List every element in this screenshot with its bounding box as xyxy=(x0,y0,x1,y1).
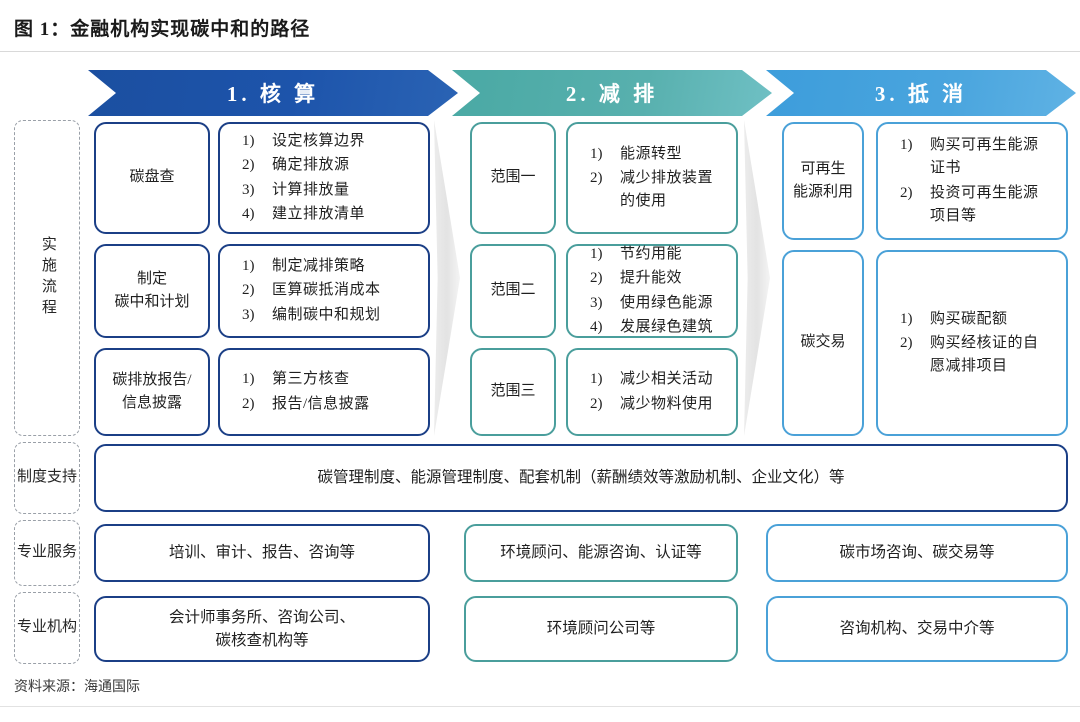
stage3-row1-items-box[interactable]: 1)购买可再生能源证书2)投资可再生能源项目等 xyxy=(876,122,1068,240)
numbered-item: 2)购买经核证的自愿减排项目 xyxy=(900,332,1066,379)
numbered-item-text: 匡算碳抵消成本 xyxy=(272,279,428,302)
numbered-item-number: 3) xyxy=(590,292,620,315)
numbered-item-number: 1) xyxy=(900,308,930,331)
stage2-row3-title-box[interactable]: 范围三 xyxy=(470,348,556,436)
numbered-item-number: 4) xyxy=(590,316,620,339)
numbered-item-number: 1) xyxy=(590,368,620,391)
numbered-item: 1)购买可再生能源证书 xyxy=(900,134,1066,181)
stage1-row1-title: 碳盘查 xyxy=(129,166,174,189)
numbered-item-number: 1) xyxy=(590,143,620,166)
stage1-row3-title: 碳排放报告/信息披露 xyxy=(112,369,191,416)
stage2-row2-item-list: 1)节约用能2)提升能效3)使用绿色能源4)发展绿色建筑 xyxy=(568,242,736,340)
stage3-row1-item-list: 1)购买可再生能源证书2)投资可再生能源项目等 xyxy=(878,133,1066,229)
numbered-item: 2)匡算碳抵消成本 xyxy=(242,279,428,302)
numbered-item-text: 购买可再生能源证书 xyxy=(930,134,1066,181)
stage3-row2-item-list: 1)购买碳配额2)购买经核证的自愿减排项目 xyxy=(878,307,1066,380)
numbered-item-number: 1) xyxy=(900,134,930,157)
stage3-row1-title-box[interactable]: 可再生能源利用 xyxy=(782,122,864,240)
numbered-item: 3)使用绿色能源 xyxy=(590,292,736,315)
numbered-item: 1)购买碳配额 xyxy=(900,308,1066,331)
stage-banner-row: 1. 核 算 2. 减 排 3. 抵 消 xyxy=(0,70,1080,116)
numbered-item-text: 编制碳中和规划 xyxy=(272,304,428,327)
row-label-process: 实施流程 xyxy=(14,120,80,436)
numbered-item-number: 3) xyxy=(242,304,272,327)
service-stage1-text: 培训、审计、报告、咨询等 xyxy=(169,541,355,564)
organization-stage2-text: 环境顾问公司等 xyxy=(547,617,656,640)
numbered-item: 2)提升能效 xyxy=(590,267,736,290)
policy-support-box[interactable]: 碳管理制度、能源管理制度、配套机制（薪酬绩效等激励机制、企业文化）等 xyxy=(94,444,1068,512)
row-label-policy: 制度支持 xyxy=(14,442,80,514)
stage2-row2-items-box[interactable]: 1)节约用能2)提升能效3)使用绿色能源4)发展绿色建筑 xyxy=(566,244,738,338)
numbered-item-number: 1) xyxy=(242,368,272,391)
numbered-item-number: 2) xyxy=(590,393,620,416)
numbered-item-text: 建立排放清单 xyxy=(272,203,428,226)
numbered-item-number: 2) xyxy=(242,154,272,177)
service-stage1-box[interactable]: 培训、审计、报告、咨询等 xyxy=(94,524,430,582)
numbered-item-number: 1) xyxy=(590,243,620,266)
stage1-row2-item-list: 1)制定减排策略2)匡算碳抵消成本3)编制碳中和规划 xyxy=(220,254,428,328)
numbered-item: 1)能源转型 xyxy=(590,143,736,166)
numbered-item: 1)减少相关活动 xyxy=(590,368,736,391)
numbered-item: 2)投资可再生能源项目等 xyxy=(900,182,1066,229)
stage1-row2-title: 制定碳中和计划 xyxy=(114,268,189,315)
stage3-row2-title-box[interactable]: 碳交易 xyxy=(782,250,864,436)
numbered-item: 2)确定排放源 xyxy=(242,154,428,177)
stage-separator-chevron-2 xyxy=(744,120,770,436)
numbered-item-number: 2) xyxy=(242,279,272,302)
stage2-row1-items-box[interactable]: 1)能源转型2)减少排放装置的使用 xyxy=(566,122,738,234)
stage2-row1-title: 范围一 xyxy=(490,166,535,189)
numbered-item: 3)计算排放量 xyxy=(242,179,428,202)
numbered-item-number: 2) xyxy=(900,332,930,355)
stage2-row3-item-list: 1)减少相关活动2)减少物料使用 xyxy=(568,367,736,417)
numbered-item-text: 能源转型 xyxy=(620,143,736,166)
numbered-item-text: 发展绿色建筑 xyxy=(620,316,736,339)
numbered-item-text: 计算排放量 xyxy=(272,179,428,202)
organization-stage1-text: 会计师事务所、咨询公司、碳核查机构等 xyxy=(169,606,355,653)
organization-stage3-box[interactable]: 咨询机构、交易中介等 xyxy=(766,596,1068,662)
numbered-item: 2)减少物料使用 xyxy=(590,393,736,416)
numbered-item-number: 1) xyxy=(242,255,272,278)
numbered-item-number: 4) xyxy=(242,203,272,226)
numbered-item: 1)节约用能 xyxy=(590,243,736,266)
numbered-item-text: 投资可再生能源项目等 xyxy=(930,182,1066,229)
numbered-item: 4)建立排放清单 xyxy=(242,203,428,226)
row-label-organization: 专业机构 xyxy=(14,592,80,664)
stage1-row3-title-box[interactable]: 碳排放报告/信息披露 xyxy=(94,348,210,436)
numbered-item: 4)发展绿色建筑 xyxy=(590,316,736,339)
stage1-row1-item-list: 1)设定核算边界2)确定排放源3)计算排放量4)建立排放清单 xyxy=(220,129,428,227)
numbered-item: 1)制定减排策略 xyxy=(242,255,428,278)
stage3-row2-title: 碳交易 xyxy=(800,331,845,354)
row-label-policy-text: 制度支持 xyxy=(17,467,77,489)
numbered-item-text: 提升能效 xyxy=(620,267,736,290)
policy-support-text: 碳管理制度、能源管理制度、配套机制（薪酬绩效等激励机制、企业文化）等 xyxy=(317,466,844,489)
stage3-row2-items-box[interactable]: 1)购买碳配额2)购买经核证的自愿减排项目 xyxy=(876,250,1068,436)
numbered-item-number: 3) xyxy=(242,179,272,202)
numbered-item-text-continued: 项目等 xyxy=(930,205,1066,228)
stage3-row1-title: 可再生能源利用 xyxy=(793,158,853,205)
stage1-row2-items-box[interactable]: 1)制定减排策略2)匡算碳抵消成本3)编制碳中和规划 xyxy=(218,244,430,338)
row-label-service: 专业服务 xyxy=(14,520,80,586)
numbered-item-text: 第三方核查 xyxy=(272,368,428,391)
numbered-item-text: 使用绿色能源 xyxy=(620,292,736,315)
stage2-row2-title: 范围二 xyxy=(490,279,535,302)
stage-banner-offset[interactable]: 3. 抵 消 xyxy=(766,70,1076,116)
row-label-service-text: 专业服务 xyxy=(17,542,77,564)
numbered-item-text: 节约用能 xyxy=(620,243,736,266)
numbered-item-text: 减少相关活动 xyxy=(620,368,736,391)
numbered-item-number: 2) xyxy=(900,182,930,205)
footer-divider xyxy=(0,706,1080,707)
stage-separator-chevron-1 xyxy=(434,120,460,436)
numbered-item-text: 制定减排策略 xyxy=(272,255,428,278)
organization-stage3-text: 咨询机构、交易中介等 xyxy=(839,617,994,640)
figure-title-bar: 图 1：金融机构实现碳中和的路径 xyxy=(0,0,1080,52)
numbered-item-text-continued: 证书 xyxy=(930,157,1066,180)
stage2-row3-title: 范围三 xyxy=(490,380,535,403)
service-stage3-text: 碳市场咨询、碳交易等 xyxy=(839,541,994,564)
source-note: 资料来源：海通国际 xyxy=(14,676,140,696)
organization-stage1-box[interactable]: 会计师事务所、咨询公司、碳核查机构等 xyxy=(94,596,430,662)
numbered-item-text: 报告/信息披露 xyxy=(272,393,428,416)
stage-banner-reduction-label: 2. 减 排 xyxy=(566,78,658,108)
numbered-item: 3)编制碳中和规划 xyxy=(242,304,428,327)
stage-banner-offset-label: 3. 抵 消 xyxy=(875,78,967,108)
stage1-row1-items-box[interactable]: 1)设定核算边界2)确定排放源3)计算排放量4)建立排放清单 xyxy=(218,122,430,234)
stage2-row3-items-box[interactable]: 1)减少相关活动2)减少物料使用 xyxy=(566,348,738,436)
organization-stage2-box[interactable]: 环境顾问公司等 xyxy=(464,596,738,662)
stage-banner-accounting[interactable]: 1. 核 算 xyxy=(88,70,458,116)
numbered-item-text: 购买碳配额 xyxy=(930,308,1066,331)
stage1-row2-title-box[interactable]: 制定碳中和计划 xyxy=(94,244,210,338)
numbered-item: 1)设定核算边界 xyxy=(242,130,428,153)
stage1-row1-title-box[interactable]: 碳盘查 xyxy=(94,122,210,234)
numbered-item-text: 减少物料使用 xyxy=(620,393,736,416)
stage-banner-reduction[interactable]: 2. 减 排 xyxy=(452,70,772,116)
stage1-row3-item-list: 1)第三方核查2)报告/信息披露 xyxy=(220,367,428,417)
row-label-process-text: 实施流程 xyxy=(36,236,58,320)
row-label-organization-text: 专业机构 xyxy=(17,617,77,639)
stage-banner-accounting-label: 1. 核 算 xyxy=(227,78,319,108)
numbered-item-number: 2) xyxy=(590,267,620,290)
numbered-item-text-continued: 愿减排项目 xyxy=(930,355,1066,378)
numbered-item-text: 设定核算边界 xyxy=(272,130,428,153)
numbered-item: 2)报告/信息披露 xyxy=(242,393,428,416)
stage2-row1-item-list: 1)能源转型2)减少排放装置的使用 xyxy=(568,142,736,215)
page-title: 图 1：金融机构实现碳中和的路径 xyxy=(14,14,1080,41)
numbered-item: 2)减少排放装置的使用 xyxy=(590,167,736,214)
numbered-item-text: 购买经核证的自愿减排项目 xyxy=(930,332,1066,379)
service-stage3-box[interactable]: 碳市场咨询、碳交易等 xyxy=(766,524,1068,582)
numbered-item-text: 减少排放装置的使用 xyxy=(620,167,736,214)
service-stage2-box[interactable]: 环境顾问、能源咨询、认证等 xyxy=(464,524,738,582)
stage1-row3-items-box[interactable]: 1)第三方核查2)报告/信息披露 xyxy=(218,348,430,436)
numbered-item-number: 1) xyxy=(242,130,272,153)
numbered-item: 1)第三方核查 xyxy=(242,368,428,391)
numbered-item-number: 2) xyxy=(242,393,272,416)
numbered-item-text-continued: 的使用 xyxy=(620,190,736,213)
numbered-item-text: 确定排放源 xyxy=(272,154,428,177)
stage2-row1-title-box[interactable]: 范围一 xyxy=(470,122,556,234)
stage2-row2-title-box[interactable]: 范围二 xyxy=(470,244,556,338)
numbered-item-number: 2) xyxy=(590,167,620,190)
service-stage2-text: 环境顾问、能源咨询、认证等 xyxy=(500,541,702,564)
